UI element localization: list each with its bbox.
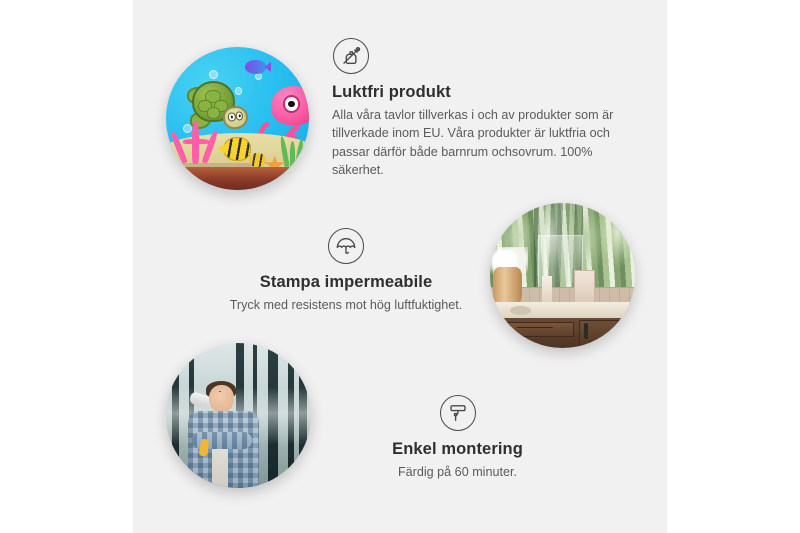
bubble-icon xyxy=(209,70,218,79)
feature-description: Färdig på 60 minuter. xyxy=(325,463,590,481)
coral-branch xyxy=(201,130,218,164)
coral-branch xyxy=(183,139,208,144)
grass-blade xyxy=(290,141,295,167)
umbrella-icon xyxy=(328,228,364,264)
promo-graphic: Luktfri produkt Alla våra tavlor tillver… xyxy=(0,0,800,533)
coral-branch xyxy=(170,131,188,164)
pink-coral xyxy=(172,121,221,164)
octopus-eye xyxy=(283,95,301,113)
ocean-scene xyxy=(166,47,309,190)
painter-person xyxy=(183,381,267,488)
underwater-cartoon-wallpaper-photo xyxy=(166,47,309,190)
turtle-scute xyxy=(207,107,221,119)
feature-waterproof: Stampa impermeabile Tryck med resistens … xyxy=(211,228,481,314)
feature-mounting: Enkel montering Färdig på 60 minuter. xyxy=(325,395,590,481)
vanity-drawer xyxy=(498,322,575,337)
blue-fish xyxy=(245,60,266,74)
painter-smile xyxy=(219,391,222,392)
painter-scene xyxy=(166,343,311,488)
paint-roller-icon xyxy=(440,395,476,431)
door-handle xyxy=(584,323,589,339)
painter-face xyxy=(209,385,234,413)
feature-title: Luktfri produkt xyxy=(332,83,632,102)
feature-odourless: Luktfri produkt Alla våra tavlor tillver… xyxy=(332,38,632,179)
feature-description: Alla våra tavlor tillverkas i och av pro… xyxy=(332,106,632,179)
feature-title: Stampa impermeabile xyxy=(211,273,481,292)
turtle-head xyxy=(222,104,250,131)
small-yellow-fish xyxy=(249,153,266,167)
feature-description: Tryck med resistens mot hög luftfuktighe… xyxy=(211,296,481,314)
turtle-eye xyxy=(236,111,245,121)
ocean-floor xyxy=(166,167,309,190)
feature-title: Enkel montering xyxy=(325,440,590,459)
grass-blade xyxy=(295,139,304,168)
soap-dish xyxy=(510,306,530,315)
bathroom-botanical-wallpaper-photo xyxy=(490,203,635,348)
bathroom-scene xyxy=(490,203,635,348)
content-panel: Luktfri produkt Alla våra tavlor tillver… xyxy=(133,0,667,533)
painter-in-forest-photo xyxy=(166,343,311,488)
soap-dispenser xyxy=(542,276,552,302)
no-fragrance-icon xyxy=(333,38,369,74)
octopus-head xyxy=(271,86,309,126)
yellow-striped-fish xyxy=(223,137,251,162)
wooden-vanity xyxy=(490,318,635,348)
